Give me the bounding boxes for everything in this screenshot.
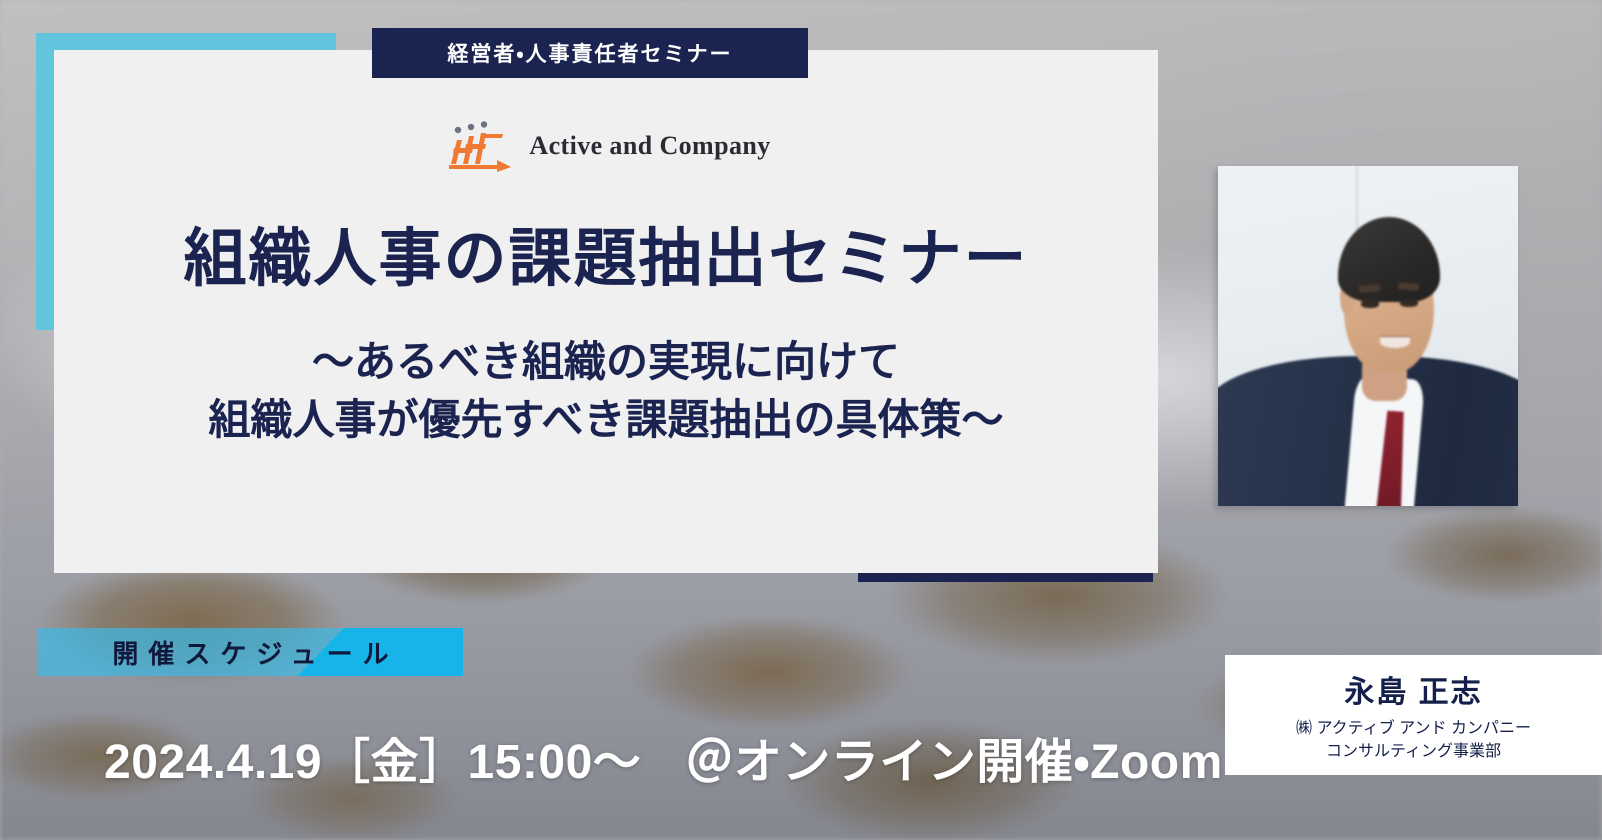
eyebrow-band: 経営者・人事責任者セミナー	[372, 28, 808, 78]
seminar-title: 組織人事の課題抽出セミナー	[54, 208, 1158, 299]
subtitle-line-1: 〜あるべき組織の実現に向けて	[54, 333, 1158, 391]
schedule-details: 2024.4.19［金］15:00〜 ＠オンライン開催・Zoom	[104, 722, 1223, 792]
company-wordmark: Active and Company	[529, 131, 770, 161]
speaker-info-card: 永島 正志 ㈱ アクティブ アンド カンパニー コンサルティング事業部	[1225, 655, 1602, 775]
speaker-department: コンサルティング事業部	[1296, 741, 1531, 763]
schedule-band: 開催スケジュール	[38, 628, 463, 676]
seminar-banner: 経営者・人事責任者セミナー Active and Company 組織人事の課題…	[0, 0, 1602, 840]
seminar-subtitle: 〜あるべき組織の実現に向けて 組織人事が優先すべき課題抽出の具体策〜	[54, 333, 1158, 449]
eyebrow-label: 経営者・人事責任者セミナー	[447, 38, 732, 68]
schedule-date: 2024.4.19［金］15:00〜	[104, 722, 641, 792]
portrait-mouth	[1380, 336, 1410, 348]
subtitle-line-2: 組織人事が優先すべき課題抽出の具体策〜	[54, 391, 1158, 449]
ascending-bars-icon	[441, 120, 515, 172]
schedule-venue: ＠オンライン開催・Zoom	[685, 722, 1222, 792]
speaker-company: ㈱ アクティブ アンド カンパニー	[1296, 718, 1531, 740]
speaker-affiliation: ㈱ アクティブ アンド カンパニー コンサルティング事業部	[1296, 718, 1531, 763]
portrait-eye-left	[1361, 300, 1379, 308]
company-logo: Active and Company	[54, 120, 1158, 172]
speaker-portrait	[1218, 166, 1518, 506]
portrait-eye-right	[1400, 299, 1418, 307]
schedule-band-label: 開催スケジュール	[38, 628, 463, 676]
speaker-name: 永島 正志	[1344, 667, 1482, 711]
